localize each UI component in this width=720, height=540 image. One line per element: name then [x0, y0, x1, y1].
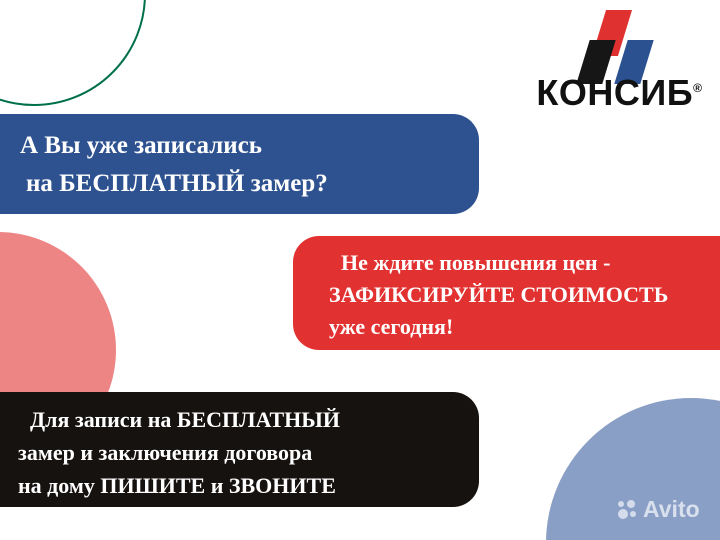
logo-brand-name: КОНСИБ	[536, 72, 693, 113]
cta-banner-black: Для записи на БЕСПЛАТНЫЙ замер и заключе…	[0, 392, 479, 507]
avito-watermark: Avito	[618, 498, 700, 521]
urgency-banner-red: Не ждите повышения цен - ЗАФИКСИРУЙТЕ СТ…	[293, 236, 720, 350]
logo-wordmark: КОНСИБ®	[517, 68, 702, 113]
banner-red-line-3: уже сегодня!	[329, 311, 720, 343]
green-ring-decoration	[0, 0, 146, 106]
banner-blue-line-1: А Вы уже записались	[20, 127, 457, 165]
registered-trademark-icon: ®	[693, 81, 702, 95]
brand-logo: КОНСИБ®	[517, 8, 702, 110]
poster-canvas: КОНСИБ® А Вы уже записались на БЕСПЛАТНЫ…	[0, 0, 720, 540]
banner-black-line-3: на дому ПИШИТЕ и ЗВОНИТЕ	[18, 469, 459, 502]
banner-red-line-1: Не ждите повышения цен -	[329, 247, 720, 279]
banner-black-line-1: Для записи на БЕСПЛАТНЫЙ	[18, 403, 459, 436]
headline-banner-blue: А Вы уже записались на БЕСПЛАТНЫЙ замер?	[0, 114, 479, 214]
banner-black-line-2: замер и заключения договора	[18, 436, 459, 469]
banner-blue-line-2: на БЕСПЛАТНЫЙ замер?	[20, 165, 457, 203]
banner-red-line-2: ЗАФИКСИРУЙТЕ СТОИМОСТЬ	[329, 279, 720, 311]
avito-dots-icon	[618, 500, 638, 520]
logo-mark-icon	[517, 8, 702, 66]
avito-label: Avito	[643, 498, 700, 521]
